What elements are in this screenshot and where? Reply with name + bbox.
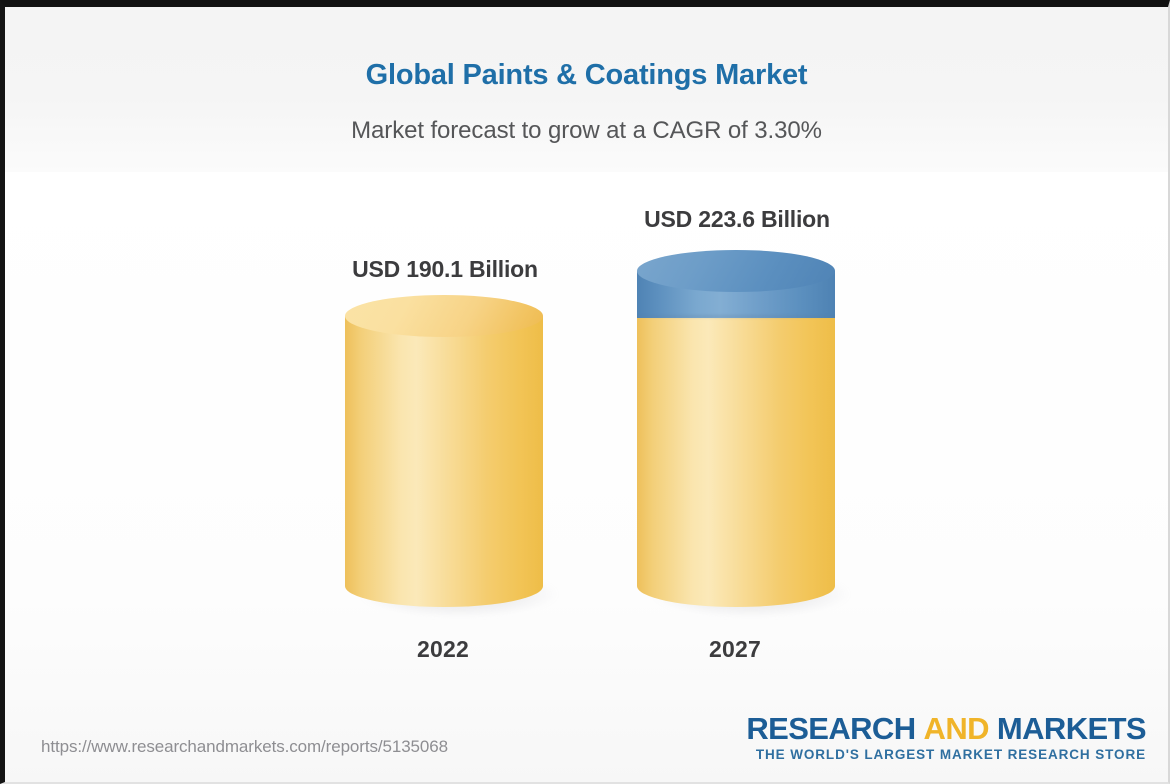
bar-body-2022 [345,316,543,607]
logo-word-research: RESEARCH [746,711,915,746]
bar-cylinder-2027 [637,250,835,607]
chart-subtitle: Market forecast to grow at a CAGR of 3.3… [5,117,1168,145]
bar-base-segment-2027 [637,316,835,607]
bar-value-label-2027: USD 223.6 Billion [597,206,877,233]
category-label-2022: 2022 [343,636,543,663]
bar-cylinder-2022 [345,295,543,607]
logo-word-markets: MARKETS [997,711,1146,746]
bar-top-ellipse-2022 [345,295,543,337]
bar-segment-seam-2027 [637,315,835,318]
body-background-band [5,172,1168,782]
logo-word-and: AND [924,711,989,746]
category-label-2027: 2027 [635,636,835,663]
bar-value-label-2022: USD 190.1 Billion [305,256,585,283]
logo-tagline: THE WORLD'S LARGEST MARKET RESEARCH STOR… [746,747,1146,762]
chart-title: Global Paints & Coatings Market [5,59,1168,92]
logo-wordmark: RESEARCH AND MARKETS [746,713,1146,744]
bar-top-ellipse-2027 [637,250,835,292]
source-url[interactable]: https://www.researchandmarkets.com/repor… [41,737,448,757]
research-and-markets-logo[interactable]: RESEARCH AND MARKETS THE WORLD'S LARGEST… [746,713,1146,762]
chart-canvas: Global Paints & Coatings Market Market f… [0,0,1170,784]
